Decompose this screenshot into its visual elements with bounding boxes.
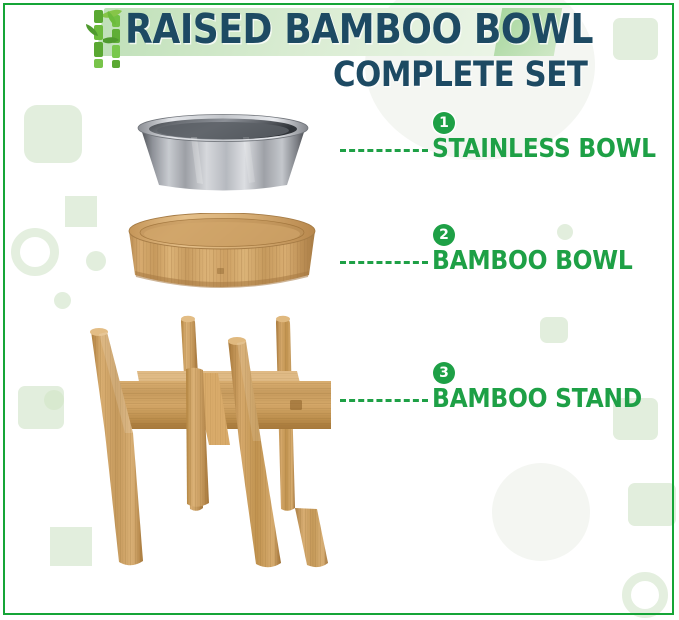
deco-circle: [54, 292, 71, 309]
callout-badge-1: 1: [433, 112, 455, 134]
leader-line-icon: [340, 149, 428, 152]
bamboo-stand: [85, 313, 350, 575]
stand-rail-right: [213, 381, 331, 429]
infographic-canvas: RAISED BAMBOO BOWL COMPLETE SET: [0, 0, 679, 620]
deco-rounded-square: [24, 105, 82, 163]
deco-square: [65, 196, 97, 227]
deco-rounded-square: [628, 483, 676, 526]
page-title-line-2: COMPLETE SET: [333, 55, 587, 95]
stand-leg-back-right-foot: [295, 508, 328, 567]
callout-label-2: BAMBOO BOWL: [432, 246, 632, 276]
stand-leg-front-left: [90, 328, 143, 565]
deco-ring: [622, 572, 668, 618]
callout-label-1: STAINLESS BOWL: [432, 134, 656, 164]
deco-circle: [44, 390, 64, 410]
stainless-steel-bowl: [131, 113, 315, 196]
deco-circle: [86, 251, 106, 271]
deco-circle: [557, 224, 573, 240]
bamboo-bowl: [122, 213, 322, 299]
deco-ring: [11, 228, 59, 276]
leader-line-icon: [340, 399, 428, 402]
leader-line-icon: [340, 261, 428, 264]
deco-rounded-square: [613, 18, 658, 60]
callout-label-3: BAMBOO STAND: [432, 384, 642, 414]
deco-rounded-square: [540, 317, 568, 343]
callout-badge-3: 3: [433, 362, 455, 384]
page-title-line-1: RAISED BAMBOO BOWL: [125, 6, 593, 52]
deco-big-circle-bottom-right: [492, 463, 590, 561]
callout-badge-2: 2: [433, 224, 455, 246]
